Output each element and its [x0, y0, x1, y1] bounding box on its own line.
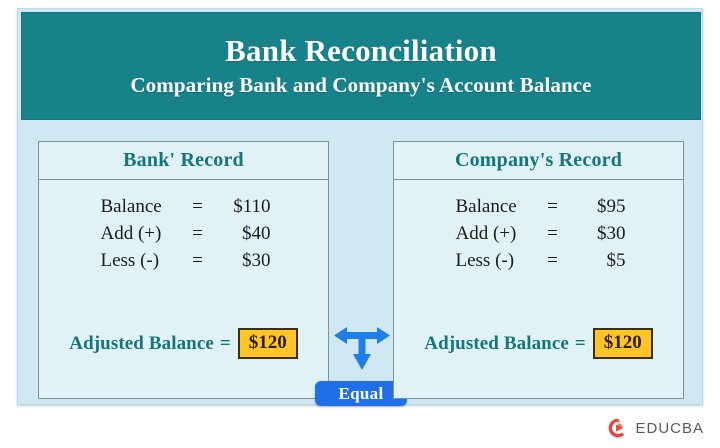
company-adjusted-balance-row: Adjusted Balance = $120	[394, 328, 683, 359]
company-record-rows: Balance = $95 Add (+) = $30 Less (-) =	[430, 196, 648, 277]
row-value: $30	[564, 223, 648, 245]
row-equals-sign: =	[187, 223, 209, 245]
row-equals-sign: =	[542, 223, 564, 245]
educba-e-logo-icon	[607, 417, 629, 439]
adjusted-balance-label: Adjusted Balance	[424, 333, 569, 355]
table-row: Less (-) = $30	[75, 250, 293, 277]
brand-logo: EDUCBA	[607, 417, 704, 439]
panel-company-record: Company's Record Balance = $95 Add (+) =…	[393, 141, 684, 399]
equal-badge-label: Equal	[339, 384, 384, 404]
adjusted-balance-value: $120	[238, 328, 298, 359]
adjusted-balance-value: $120	[593, 328, 653, 359]
brand-name-label: EDUCBA	[635, 420, 704, 437]
row-value: $5	[564, 250, 648, 272]
row-label: Less (-)	[430, 250, 542, 272]
adjusted-balance-label: Adjusted Balance	[69, 333, 214, 355]
page-subtitle: Comparing Bank and Company's Account Bal…	[130, 73, 591, 97]
page-title: Bank Reconciliation	[225, 34, 497, 68]
row-label: Add (+)	[430, 223, 542, 245]
row-value: $40	[209, 223, 293, 245]
table-row: Balance = $110	[75, 196, 293, 223]
panel-bank-record: Bank' Record Balance = $110 Add (+) = $4…	[38, 141, 329, 399]
row-equals-sign: =	[187, 250, 209, 272]
panel-bank-record-title: Bank' Record	[123, 149, 244, 172]
comparison-area: Bank' Record Balance = $110 Add (+) = $4…	[21, 120, 701, 403]
table-row: Add (+) = $40	[75, 223, 293, 250]
infographic-card: Bank Reconciliation Comparing Bank and C…	[17, 8, 703, 405]
panel-company-record-title: Company's Record	[455, 149, 622, 172]
panel-company-record-body: Balance = $95 Add (+) = $30 Less (-) =	[394, 180, 683, 399]
adjusted-balance-equals-sign: =	[575, 333, 586, 355]
connector-column: Equal	[329, 141, 393, 399]
row-value: $95	[564, 196, 648, 218]
row-equals-sign: =	[187, 196, 209, 218]
row-label: Balance	[430, 196, 542, 218]
table-row: Add (+) = $30	[430, 223, 648, 250]
table-row: Balance = $95	[430, 196, 648, 223]
row-label: Less (-)	[75, 250, 187, 272]
row-equals-sign: =	[542, 250, 564, 272]
table-row: Less (-) = $5	[430, 250, 648, 277]
bank-adjusted-balance-row: Adjusted Balance = $120	[39, 328, 328, 359]
bank-reconciliation-infographic: Bank Reconciliation Comparing Bank and C…	[0, 0, 720, 448]
row-value: $110	[209, 196, 293, 218]
row-label: Balance	[75, 196, 187, 218]
header-band: Bank Reconciliation Comparing Bank and C…	[21, 12, 701, 120]
bank-record-rows: Balance = $110 Add (+) = $40 Less (-) =	[75, 196, 293, 277]
row-value: $30	[209, 250, 293, 272]
row-label: Add (+)	[75, 223, 187, 245]
panel-bank-record-header: Bank' Record	[39, 142, 328, 180]
three-way-arrow-icon	[334, 323, 390, 371]
panel-company-record-header: Company's Record	[394, 142, 683, 180]
row-equals-sign: =	[542, 196, 564, 218]
adjusted-balance-equals-sign: =	[220, 333, 231, 355]
panel-bank-record-body: Balance = $110 Add (+) = $40 Less (-) =	[39, 180, 328, 399]
